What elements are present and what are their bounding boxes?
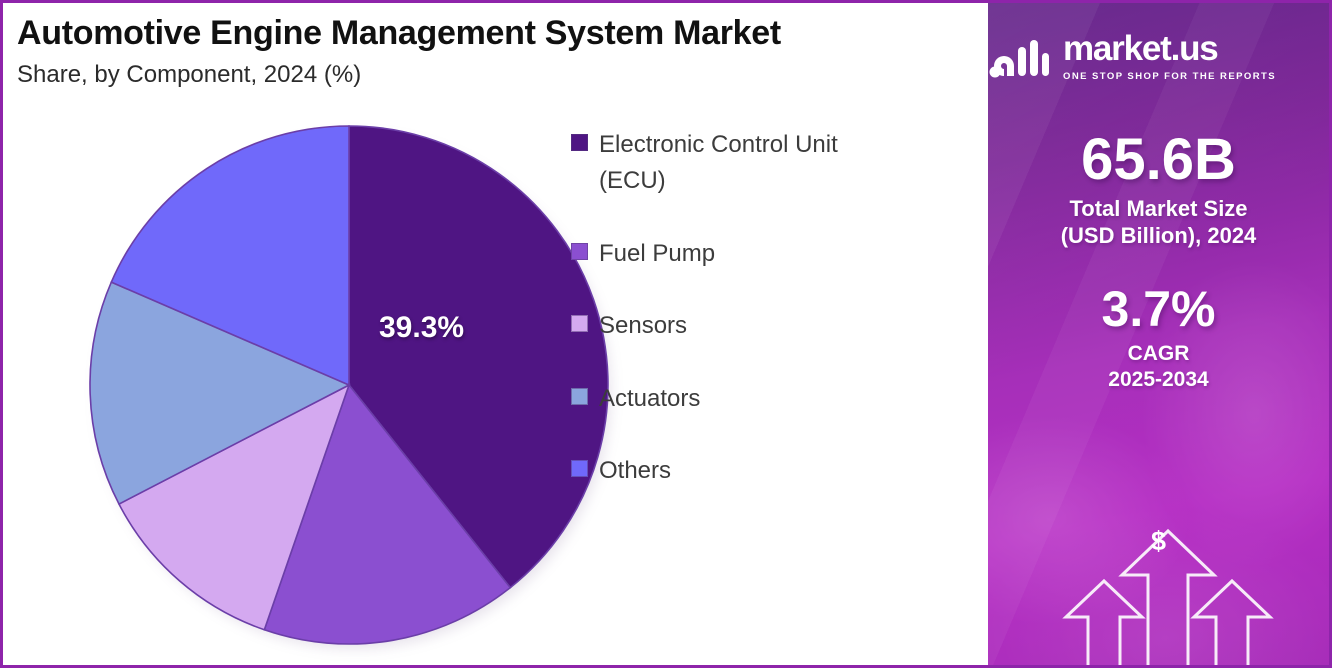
market-us-logo-icon	[988, 35, 1050, 81]
stat-value-market-size: 65.6B	[988, 130, 1329, 189]
legend-item-others[interactable]: Others	[571, 453, 961, 489]
infographic-page: Automotive Engine Management System Mark…	[0, 0, 1332, 668]
brand-logo[interactable]: market.us ONE STOP SHOP FOR THE REPORTS	[988, 31, 1329, 84]
pie-slice-label-ecu: 39.3%	[379, 311, 464, 345]
legend-item-actuators[interactable]: Actuators	[571, 381, 961, 417]
title-block: Automotive Engine Management System Mark…	[3, 3, 988, 89]
stat-value-cagr: 3.7%	[988, 284, 1329, 335]
logo-text-block: market.us ONE STOP SHOP FOR THE REPORTS	[1063, 31, 1329, 84]
plot-area: 39.3% Electronic Control Unit (ECU) Fuel…	[3, 115, 988, 665]
legend-swatch-ecu	[571, 134, 588, 151]
legend-swatch-sensors	[571, 315, 588, 332]
growth-arrows-icon	[988, 505, 1329, 665]
legend-label-sensors: Sensors	[599, 308, 687, 344]
legend-item-fuel-pump[interactable]: Fuel Pump	[571, 236, 961, 272]
legend-label-fuel-pump: Fuel Pump	[599, 236, 715, 272]
chart-legend: Electronic Control Unit (ECU) Fuel Pump …	[571, 127, 961, 526]
logo-wordmark: market.us	[1063, 29, 1218, 68]
legend-label-actuators: Actuators	[599, 381, 700, 417]
pie-slices	[87, 123, 611, 647]
legend-swatch-actuators	[571, 388, 588, 405]
pie-svg	[87, 123, 611, 647]
pie-chart: 39.3%	[87, 123, 615, 651]
stat-caption-market-size: Total Market Size (USD Billion), 2024	[988, 195, 1329, 250]
sidebar-content: market.us ONE STOP SHOP FOR THE REPORTS …	[988, 3, 1329, 665]
stat-cagr: 3.7% CAGR 2025-2034	[988, 284, 1329, 393]
page-title: Automotive Engine Management System Mark…	[17, 15, 988, 52]
legend-swatch-fuel-pump	[571, 243, 588, 260]
chart-panel: Automotive Engine Management System Mark…	[3, 3, 988, 665]
legend-item-sensors[interactable]: Sensors	[571, 308, 961, 344]
legend-label-others: Others	[599, 453, 671, 489]
legend-label-ecu: Electronic Control Unit (ECU)	[599, 127, 909, 200]
legend-swatch-others	[571, 460, 588, 477]
stats-sidebar: market.us ONE STOP SHOP FOR THE REPORTS …	[988, 3, 1329, 665]
stat-caption-cagr: CAGR 2025-2034	[988, 341, 1329, 393]
stat-total-market-size: 65.6B Total Market Size (USD Billion), 2…	[988, 130, 1329, 250]
legend-item-ecu[interactable]: Electronic Control Unit (ECU)	[571, 127, 961, 200]
logo-tagline: ONE STOP SHOP FOR THE REPORTS	[1063, 71, 1276, 82]
chart-subtitle: Share, by Component, 2024 (%)	[17, 61, 988, 89]
